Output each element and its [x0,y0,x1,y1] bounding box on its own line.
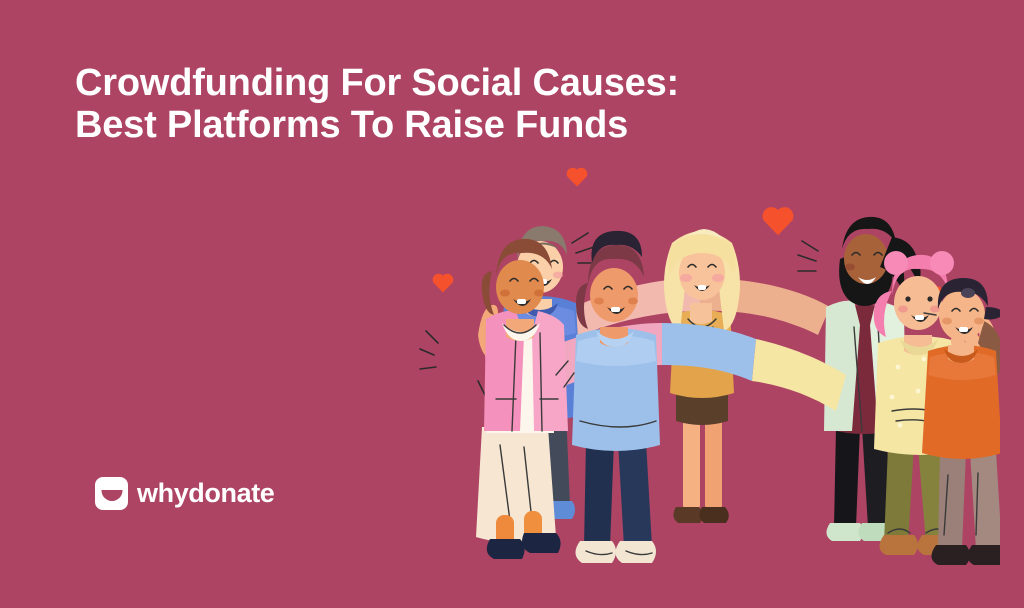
person-blonde-mustard [664,229,740,523]
whydonate-logo[interactable]: whydonate [95,477,274,510]
whydonate-bowl-icon [95,477,128,510]
heart-top-center [565,165,589,187]
title-line-2: Best Platforms To Raise Funds [75,104,679,146]
page-title: Crowdfunding For Social Causes: Best Pla… [75,62,679,146]
logo-wordmark: whydonate [137,480,274,507]
banner: Crowdfunding For Social Causes: Best Pla… [0,0,1024,608]
group-of-people-hugging-illustration: .ln{stroke:#2b2b2b;stroke-width:1.6;stro… [400,215,1000,585]
title-line-1: Crowdfunding For Social Causes: [75,62,679,104]
